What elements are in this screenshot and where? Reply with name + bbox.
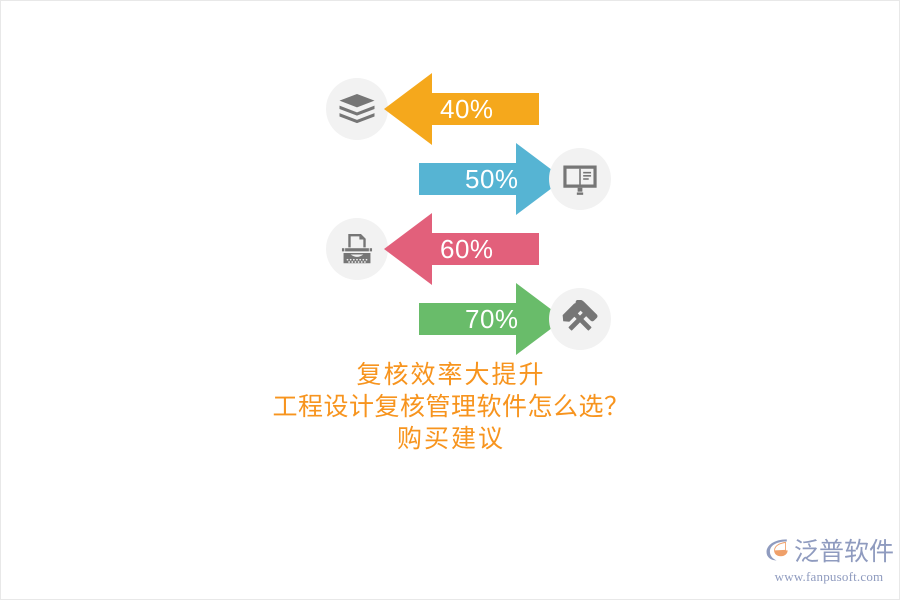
stat-row-2: 50% xyxy=(411,141,611,217)
typewriter-icon xyxy=(338,230,376,268)
open-book-reader-icon xyxy=(561,160,599,198)
crossed-hammers-icon-badge xyxy=(549,288,611,350)
watermark-url: www.fanpusoft.com xyxy=(775,569,884,585)
typewriter-icon-badge xyxy=(326,218,388,280)
headline-line-3: 购买建议 xyxy=(1,423,900,455)
watermark-brand-name: 泛普软件 xyxy=(794,539,894,564)
arrow-shape-1: 40% xyxy=(384,71,539,147)
open-book-reader-icon-badge xyxy=(549,148,611,210)
stat-row-4: 70% xyxy=(411,281,611,357)
headline-line-2: 工程设计复核管理软件怎么选？ xyxy=(1,391,900,423)
arrow-shape-3: 60% xyxy=(384,211,539,287)
arrow-shape-2: 50% xyxy=(419,141,564,217)
watermark-brand-row: 泛普软件 xyxy=(764,536,894,568)
fanpu-swirl-logo-icon xyxy=(764,536,791,568)
headline-block: 复核效率大提升 工程设计复核管理软件怎么选？ 购买建议 xyxy=(1,359,900,455)
books-stack-icon-badge xyxy=(326,78,388,140)
watermark: 泛普软件 www.fanpusoft.com xyxy=(763,534,895,586)
stat-row-3: 60% xyxy=(326,211,596,287)
books-stack-icon xyxy=(337,89,377,129)
arrow-shape-4: 70% xyxy=(419,281,564,357)
crossed-hammers-icon xyxy=(561,300,599,338)
infographic-canvas: 40% 50% xyxy=(0,0,900,600)
stat-row-1: 40% xyxy=(326,71,596,147)
headline-line-1: 复核效率大提升 xyxy=(1,359,900,391)
